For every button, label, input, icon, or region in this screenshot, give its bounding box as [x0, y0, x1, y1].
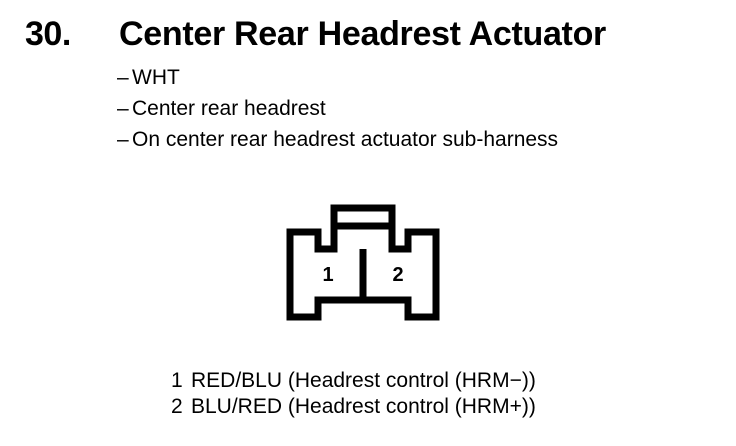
dash-bullet-icon: – — [117, 93, 132, 124]
spec-item-wire-color: –WHT — [117, 62, 717, 93]
connector-pin-1-label: 1 — [322, 264, 333, 286]
spec-item-label: WHT — [132, 62, 180, 93]
connector-diagram: 1 2 — [286, 203, 440, 321]
connector-pin-2-label: 2 — [392, 264, 403, 286]
connector-outline-svg: 1 2 — [286, 203, 440, 321]
pinout-description: RED/BLU (Headrest control (HRM−)) — [191, 368, 536, 394]
dash-bullet-icon: – — [117, 62, 132, 93]
spec-item-harness: –On center rear headrest actuator sub-ha… — [117, 124, 717, 155]
pinout-legend: 1RED/BLU (Headrest control (HRM−)) 2BLU/… — [171, 368, 691, 420]
pinout-pin-number: 2 — [171, 394, 191, 420]
pinout-pin-number: 1 — [171, 368, 191, 394]
spec-item-location: –Center rear headrest — [117, 93, 717, 124]
pinout-description: BLU/RED (Headrest control (HRM+)) — [191, 394, 536, 420]
heading-number: 30. — [25, 12, 71, 56]
pinout-row: 2BLU/RED (Headrest control (HRM+)) — [171, 394, 691, 420]
page-heading: 30. Center Rear Headrest Actuator — [0, 12, 736, 58]
spec-item-label: On center rear headrest actuator sub-har… — [132, 124, 558, 155]
dash-bullet-icon: – — [117, 124, 132, 155]
pinout-row: 1RED/BLU (Headrest control (HRM−)) — [171, 368, 691, 394]
spec-list: –WHT –Center rear headrest –On center re… — [117, 62, 717, 155]
spec-item-label: Center rear headrest — [132, 93, 326, 124]
page-title: Center Rear Headrest Actuator — [119, 12, 606, 56]
